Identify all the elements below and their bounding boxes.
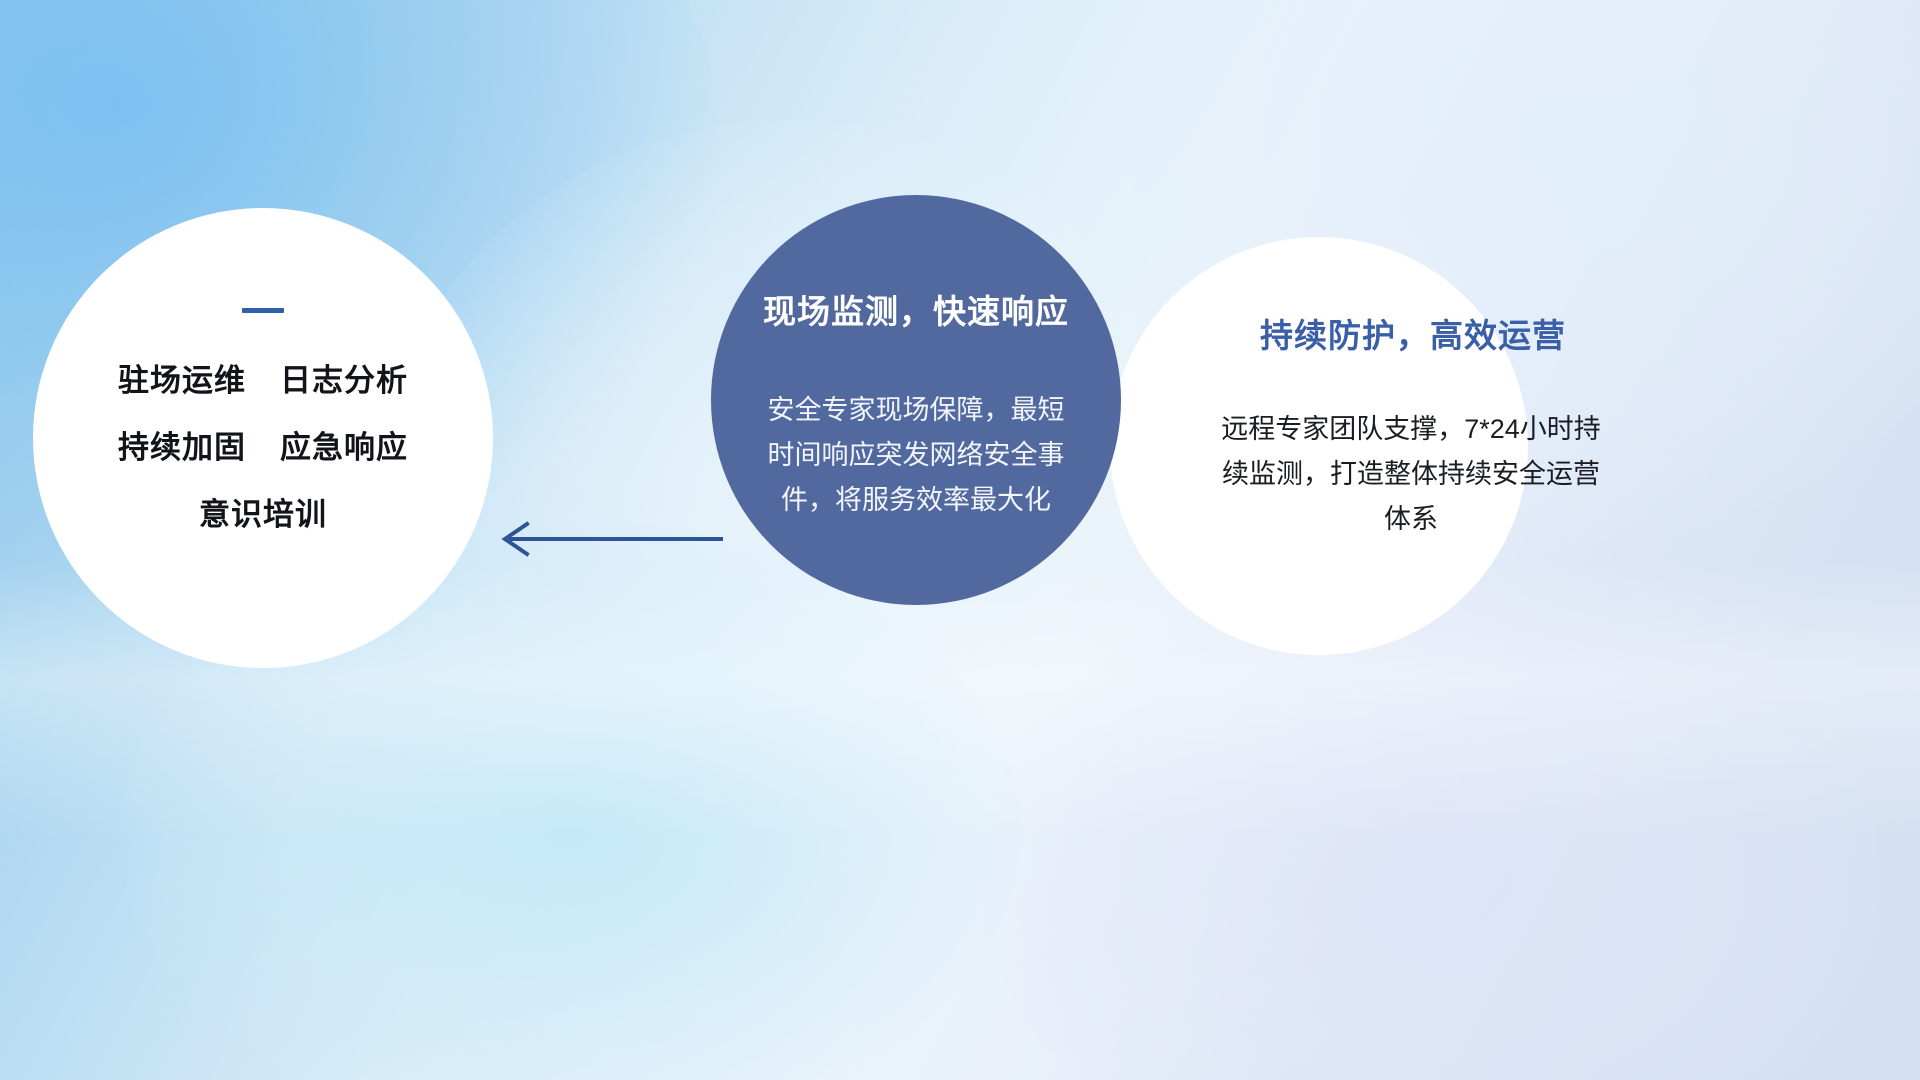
title-divider-dash xyxy=(242,308,284,313)
list-item: 日志分析 xyxy=(280,355,408,400)
right-circle-operations[interactable]: 持续防护，高效运营 远程专家团队支撑，7*24小时持续监测，打造整体持续安全运营… xyxy=(1110,237,1528,655)
left-circle-services[interactable]: 驻场运维 日志分析 持续加固 应急响应 意识培训 xyxy=(33,208,493,668)
connector-arrow xyxy=(495,512,725,566)
right-circle-title: 持续防护，高效运营 xyxy=(1260,309,1566,357)
arrow-left-icon xyxy=(495,512,725,566)
table-row: 驻场运维 日志分析 xyxy=(118,355,408,400)
list-item: 应急响应 xyxy=(280,422,408,467)
middle-circle-body: 安全专家现场保障，最短时间响应突发网络安全事件，将服务效率最大化 xyxy=(761,388,1071,523)
list-item: 持续加固 xyxy=(118,422,246,467)
middle-circle-monitoring[interactable]: 现场监测，快速响应 安全专家现场保障，最短时间响应突发网络安全事件，将服务效率最… xyxy=(711,195,1121,605)
middle-circle-title: 现场监测，快速响应 xyxy=(763,285,1069,333)
service-tag-list: 驻场运维 日志分析 持续加固 应急响应 意识培训 xyxy=(118,355,408,534)
list-item: 驻场运维 xyxy=(118,355,246,400)
background-glow-bottom-right xyxy=(980,560,1880,1080)
list-item: 意识培训 xyxy=(199,489,327,534)
table-row: 意识培训 xyxy=(199,489,327,534)
right-circle-body: 远程专家团队支撑，7*24小时持续监测，打造整体持续安全运营体系 xyxy=(1211,407,1611,542)
slide-canvas: 驻场运维 日志分析 持续加固 应急响应 意识培训 持续防护，高效运营 远程专家团… xyxy=(0,0,1920,1080)
table-row: 持续加固 应急响应 xyxy=(118,422,408,467)
